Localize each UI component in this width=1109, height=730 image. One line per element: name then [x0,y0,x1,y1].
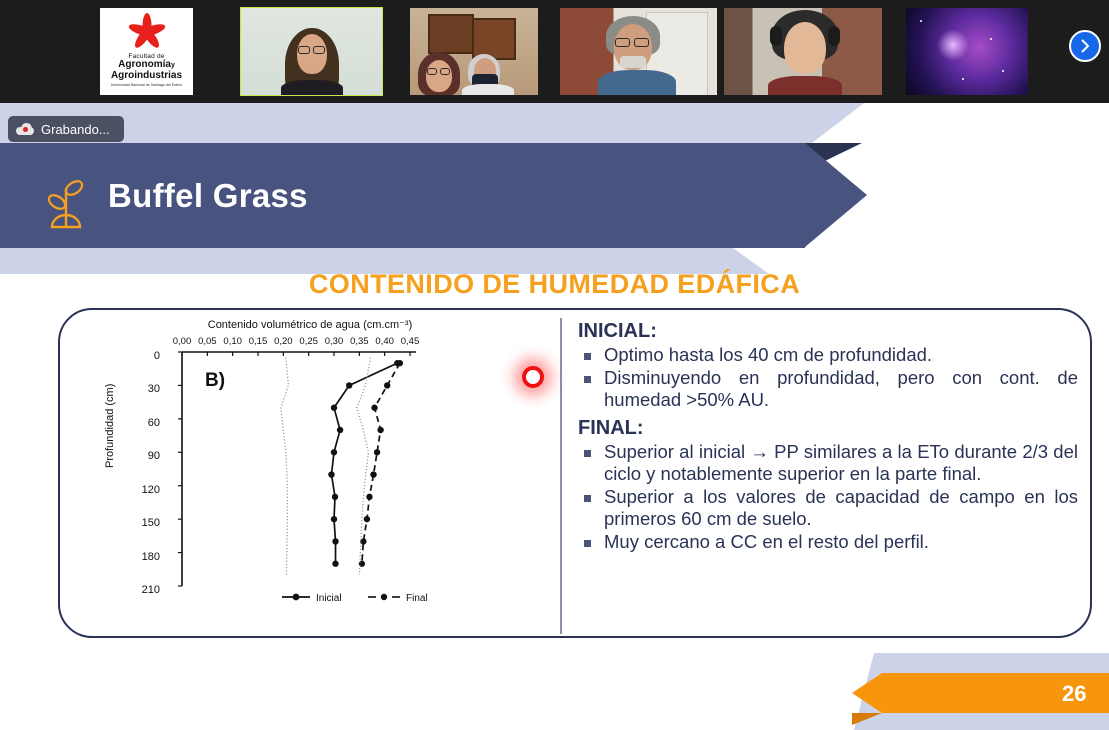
x-tick-5: 0,25 [299,336,318,347]
description-panel: INICIAL:Optimo hasta los 40 cm de profun… [578,320,1078,559]
bullet-item: Superior a los valores de capacidad de c… [578,486,1078,530]
y-tick-7: 210 [142,584,160,596]
x-tick-1: 0,05 [198,336,217,347]
chevron-right-icon [1078,39,1092,53]
x-tick-9: 0,45 [401,336,420,347]
section-heading: CONTENIDO DE HUMEDAD EDÁFICA [0,269,1109,300]
cloud-recording-icon [16,123,34,135]
participant-video-4 [724,8,882,95]
header-band-tail [812,103,864,143]
y-tick-1: 30 [148,383,160,395]
footer-ribbon-shadow [852,713,882,725]
chart-y-axis-title: Profundidad (cm) [104,384,116,468]
x-tick-0: 0,00 [173,336,192,347]
logo-line-4: Universidad Nacional de Santiago del Est… [111,83,182,87]
bullet-item: Disminuyendo en profundidad, pero con co… [578,367,1078,411]
soil-moisture-chart: Contenido volumétrico de agua (cm.cm⁻³) … [160,318,460,630]
participant-thumbnail-5[interactable] [724,8,882,95]
next-participants-button[interactable] [1069,30,1101,62]
participant-video-1 [241,8,382,95]
participant-video-3 [560,8,717,95]
x-tick-2: 0,10 [223,336,242,347]
video-thumbnail-strip: Facultad de Agronomíay Agroindustrias Un… [0,0,1109,103]
block-list-1: Superior al inicial → PP similares a la … [578,441,1078,553]
svg-text:Final: Final [406,593,428,604]
x-tick-8: 0,40 [375,336,394,347]
slide-title: Buffel Grass [108,177,308,215]
x-tick-3: 0,15 [249,336,268,347]
x-tick-4: 0,20 [274,336,293,347]
y-tick-2: 60 [148,417,160,429]
chart-x-axis-title: Contenido volumétrico de agua (cm.cm⁻³) [160,318,460,331]
footer-ribbon-tip [852,673,882,713]
logo-line-3: Agroindustrias [111,71,182,81]
institution-logo: Facultad de Agronomíay Agroindustrias Un… [100,8,193,95]
pinwheel-logo-icon [127,13,167,51]
recording-indicator[interactable]: Grabando... [8,116,124,142]
x-tick-6: 0,30 [325,336,344,347]
recording-label: Grabando... [41,122,110,137]
x-tick-7: 0,35 [350,336,369,347]
participant-thumbnail-3[interactable] [410,8,538,95]
chart-plot-area [160,348,420,598]
y-tick-5: 150 [142,517,160,529]
presentation-slide: Buffel Grass CONTENIDO DE HUMEDAD EDÁFIC… [0,103,1109,730]
participant-thumbnail-logo[interactable]: Facultad de Agronomíay Agroindustrias Un… [100,8,193,95]
bullet-item: Muy cercano a CC en el resto del perfil. [578,531,1078,553]
block-list-0: Optimo hasta los 40 cm de profundidad.Di… [578,344,1078,411]
svg-text:Inicial: Inicial [316,593,342,604]
participant-thumbnail-6[interactable] [906,8,1028,95]
card-divider [560,318,562,634]
participant-thumbnail-4[interactable] [560,8,717,95]
block-title-0: INICIAL: [578,320,1078,343]
y-tick-3: 90 [148,450,160,462]
content-card: Contenido volumétrico de agua (cm.cm⁻³) … [58,308,1092,638]
participant-video-galaxy [906,8,1028,95]
page-number: 26 [1062,681,1086,707]
bullet-item: Optimo hasta los 40 cm de profundidad. [578,344,1078,366]
participant-video-2 [410,8,538,95]
bullet-item: Superior al inicial → PP similares a la … [578,441,1078,485]
y-tick-4: 120 [142,484,160,496]
laser-pointer-highlight [522,366,544,388]
participant-thumbnail-active[interactable] [241,8,382,95]
sprout-icon [40,175,92,233]
slide-title-banner: Buffel Grass [0,143,805,248]
banner-arrow-tip [805,143,867,247]
chart-legend: Inicial Final [280,590,470,607]
y-tick-6: 180 [142,551,160,563]
block-title-1: FINAL: [578,417,1078,440]
